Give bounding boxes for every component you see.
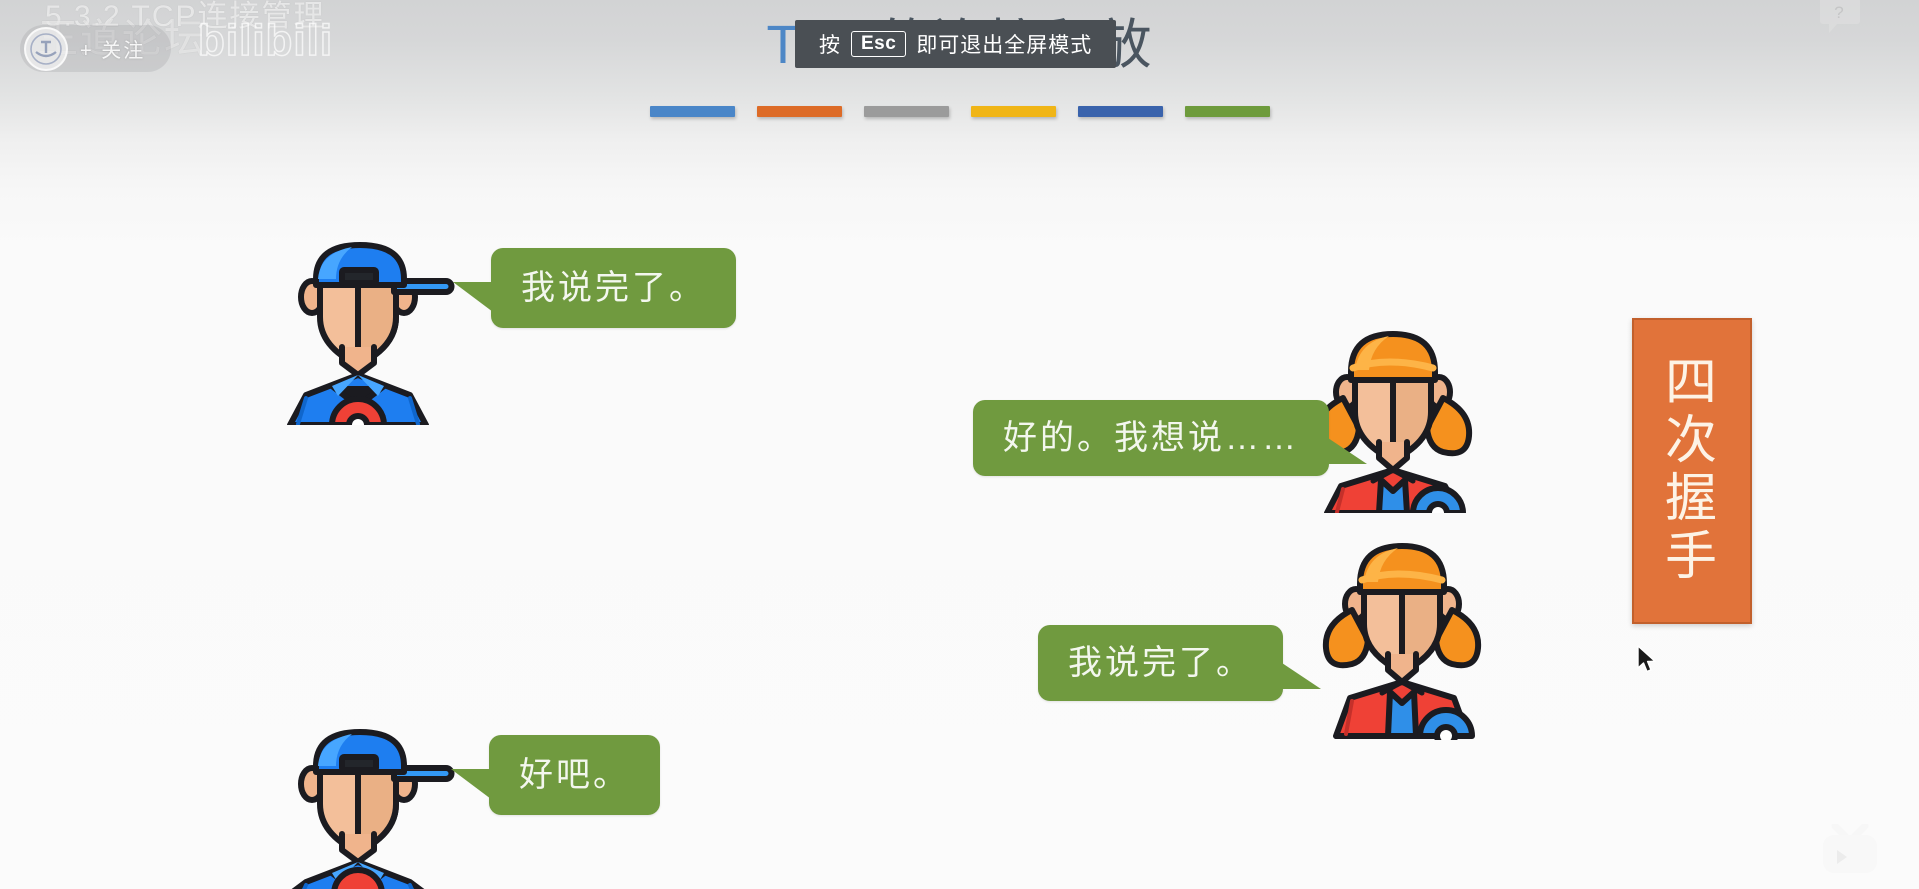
svg-text:?: ? (1834, 3, 1843, 22)
avatar-boy-top (262, 235, 462, 425)
bubble-girl-1: 好的。我想说…… (973, 400, 1329, 476)
avatar[interactable] (24, 27, 68, 71)
bubble-girl-2-text: 我说完了。 (1038, 646, 1283, 680)
esc-key-badge: Esc (851, 31, 906, 57)
banner-char-1: 四 (1665, 355, 1719, 413)
bubble-boy-1: 我说完了。 (491, 248, 736, 328)
follow-label: + 关注 (80, 34, 145, 63)
avatar-boy-bottom (262, 722, 462, 889)
bubble-boy-2-text: 好吧。 (489, 758, 660, 792)
toast-suffix: 即可退出全屏模式 (916, 29, 1092, 59)
bar-navy (1078, 106, 1163, 117)
bubble-boy-1-text: 我说完了。 (491, 271, 736, 305)
bar-green (1185, 106, 1270, 117)
handshake-banner: 四 次 握 手 (1632, 318, 1752, 624)
avatar-girl-bottom (1312, 540, 1502, 740)
fullscreen-exit-toast: 按 Esc 即可退出全屏模式 (795, 20, 1116, 68)
bubble-boy-2: 好吧。 (489, 735, 660, 815)
bar-yellow (971, 106, 1056, 117)
bubble-girl-2: 我说完了。 (1038, 625, 1283, 701)
info-tooltip-icon: ? (1819, 0, 1861, 41)
bar-orange (757, 106, 842, 117)
bilibili-logo-icon (1817, 824, 1883, 881)
avatar-girl-top (1303, 328, 1493, 513)
banner-char-4: 手 (1665, 529, 1719, 587)
bar-blue (650, 106, 735, 117)
follow-button[interactable]: + 关注 (20, 25, 171, 72)
video-player-fullscreen: 5.3.2 TCP连接管理 TCP的连接释放 (0, 0, 1919, 889)
bubble-girl-1-text: 好的。我想说…… (973, 421, 1329, 455)
banner-char-3: 握 (1665, 471, 1719, 529)
toast-prefix: 按 (819, 29, 841, 59)
bar-gray (864, 106, 949, 117)
banner-char-2: 次 (1665, 413, 1719, 471)
color-bar-row (0, 106, 1919, 117)
